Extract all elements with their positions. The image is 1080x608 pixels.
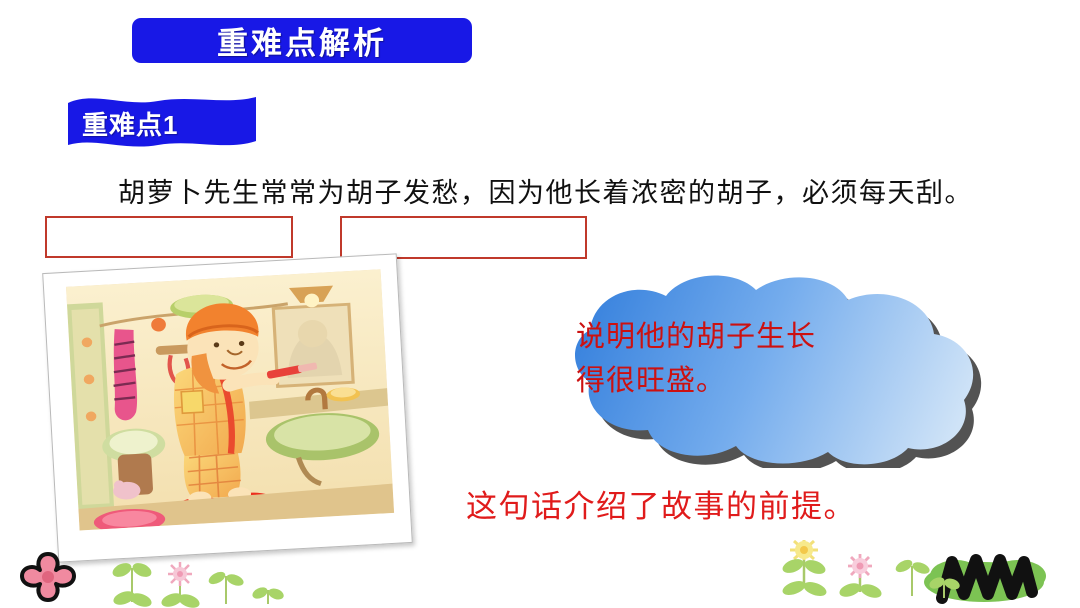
- sub-banner-label: 重难点1: [82, 105, 178, 142]
- cloud-callout-text: 说明他的胡子生长 得很旺盛。: [576, 315, 936, 403]
- pink-flower-small-icon: [168, 562, 192, 586]
- photo-frame: [42, 253, 413, 562]
- yellow-flower-icon: [781, 540, 829, 599]
- body-paragraph: 胡萝卜先生常常为胡子发愁，因为他长着浓密的胡子，必须每天刮。: [48, 172, 1033, 214]
- highlight-box-primary: [45, 216, 293, 258]
- cloud-callout: 说明他的胡子生长 得很旺盛。: [498, 268, 1036, 468]
- cloud-callout-line-2: 得很旺盛。: [576, 359, 936, 403]
- sub-banner-ribbon: 重难点1: [66, 93, 258, 151]
- title-banner: 重难点解析: [132, 18, 472, 63]
- pink-flower-icon: [14, 548, 82, 606]
- conclusion-text: 这句话介绍了故事的前提。: [466, 481, 856, 526]
- illustration-image: [66, 269, 394, 530]
- slide-canvas: 重难点解析 重难点1 胡萝卜先生常常为胡子发愁，因为他长着浓密的胡子，必须每天刮…: [0, 0, 1080, 608]
- highlight-box-secondary: [340, 216, 587, 259]
- shaving-scene-illustration-icon: [66, 269, 394, 530]
- page-title: 重难点解析: [217, 18, 387, 63]
- green-sprouts-icon: [110, 556, 295, 608]
- pink-flower-icon-right: [838, 554, 884, 600]
- flowers-and-grass-icon: [760, 540, 1072, 608]
- sprout-icon-1: [894, 557, 932, 596]
- cloud-callout-line-1: 说明他的胡子生长: [576, 315, 936, 359]
